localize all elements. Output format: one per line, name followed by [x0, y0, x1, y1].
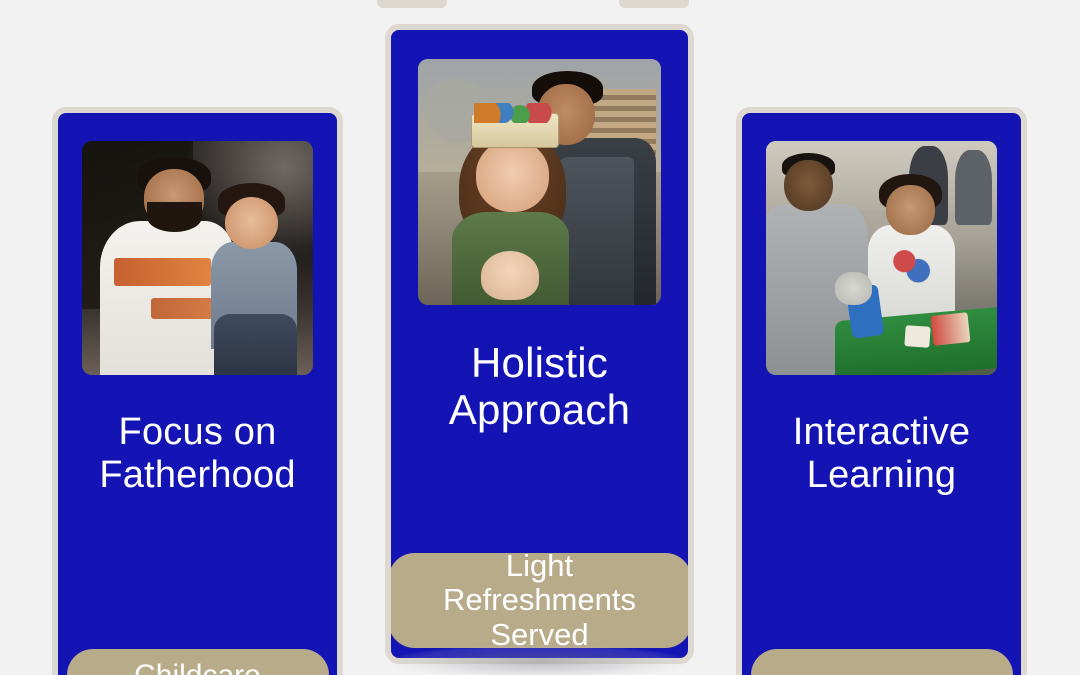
slide-canvas: Focus on Fatherhood Childcare Provided — [0, 0, 1080, 675]
card-badge-childcare-provided[interactable]: Childcare Provided — [67, 649, 329, 675]
photo-holistic-approach — [418, 59, 661, 305]
photo-focus-on-fatherhood — [82, 141, 313, 375]
card-title: Interactive Learning — [793, 411, 971, 496]
clipped-card-top-right — [619, 0, 689, 8]
card-title: Holistic Approach — [449, 339, 630, 433]
card-badge-weekly-raffles[interactable]: Weekly Raffles — [751, 649, 1013, 675]
clipped-card-top-left — [377, 0, 447, 8]
card-title: Focus on Fatherhood — [99, 411, 295, 496]
photo-interactive-learning — [766, 141, 997, 375]
card-badge-light-refreshments-served[interactable]: Light Refreshments Served — [388, 553, 691, 648]
card-holistic-approach[interactable]: Holistic Approach Light Refreshments Ser… — [385, 24, 694, 664]
card-interactive-learning[interactable]: Interactive Learning Weekly Raffles — [736, 107, 1027, 675]
card-focus-on-fatherhood[interactable]: Focus on Fatherhood Childcare Provided — [52, 107, 343, 675]
